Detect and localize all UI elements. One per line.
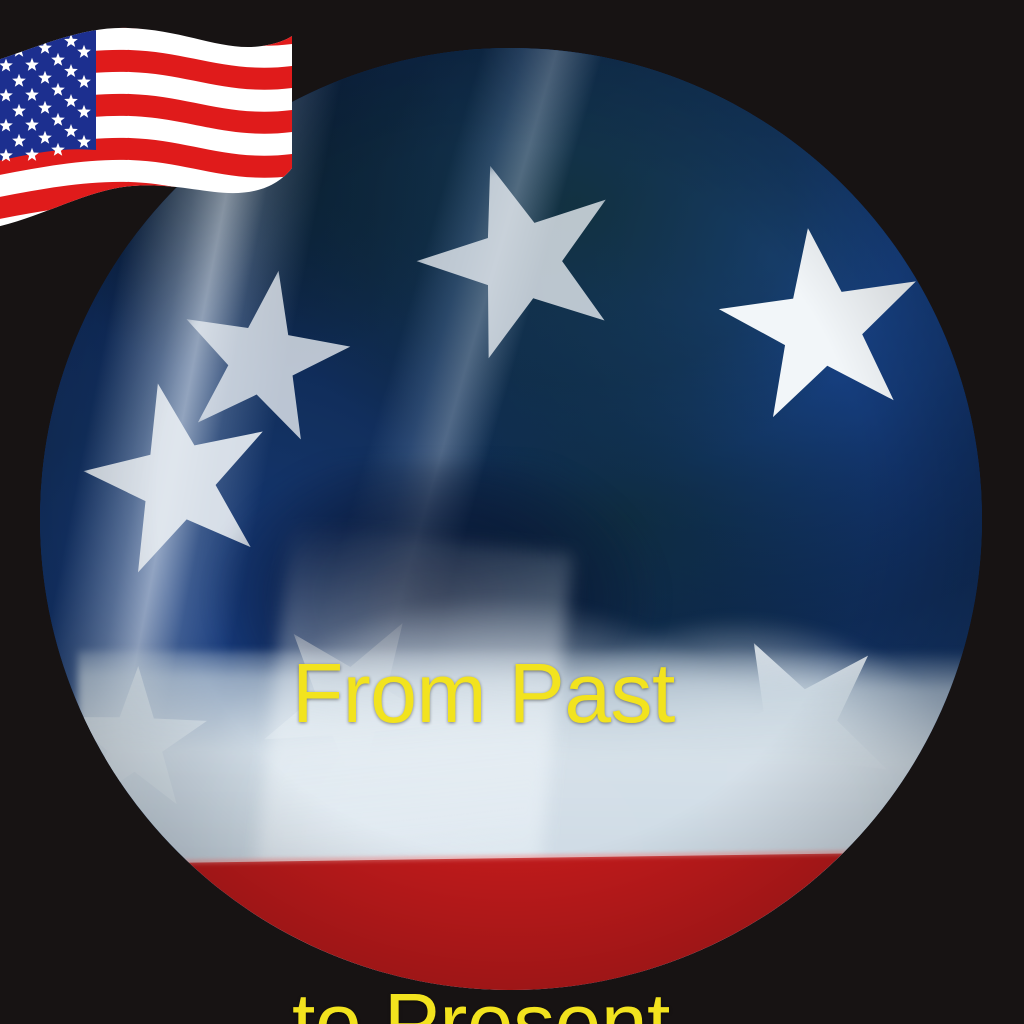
page-title-line-2: to Present	[292, 968, 932, 1024]
flag-stripes-group	[0, 18, 292, 268]
poster-canvas: From Past to Present	[0, 0, 1024, 1024]
page-title: From Past to Present	[292, 418, 932, 1024]
page-title-line-1: From Past	[292, 638, 932, 748]
waving-us-flag-icon	[0, 18, 292, 268]
flag-canton-star	[51, 23, 65, 36]
flag-canton-star	[77, 18, 91, 28]
flag-canton-star	[0, 29, 13, 42]
flag-canton-star	[25, 28, 39, 41]
